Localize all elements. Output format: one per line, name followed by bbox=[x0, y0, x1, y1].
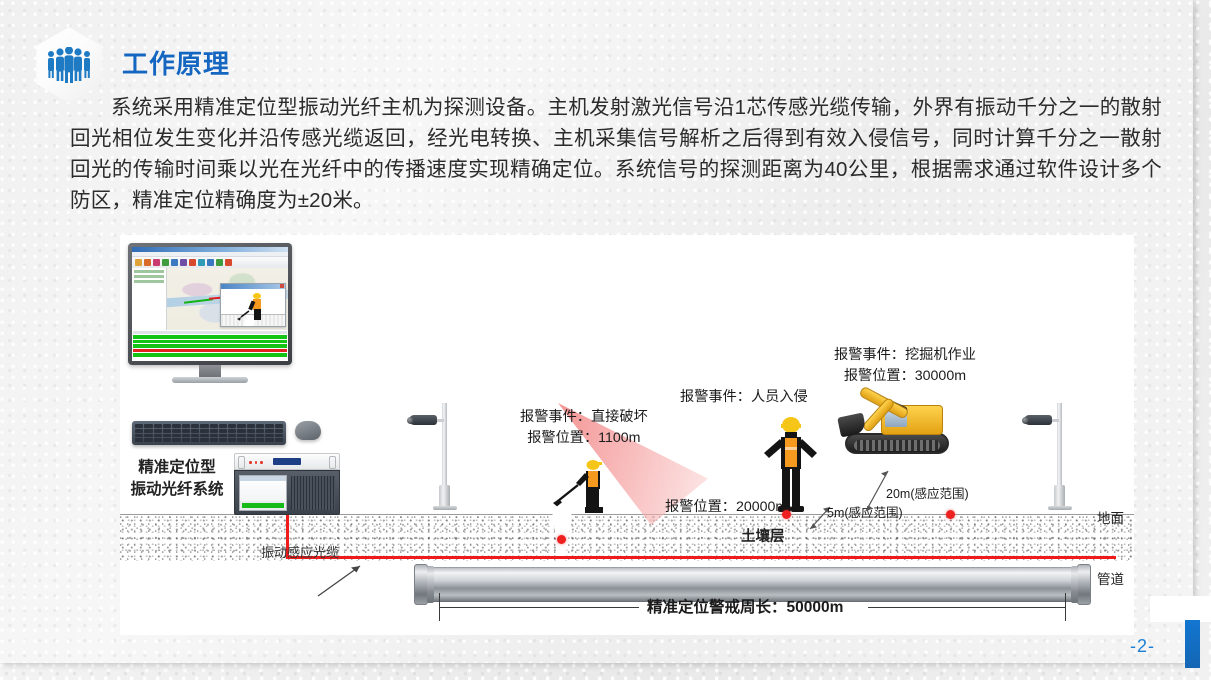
key bbox=[237, 424, 245, 428]
key bbox=[172, 434, 180, 438]
body-paragraph: 系统采用精准定位型振动光纤主机为探测设备。主机发射激光信号沿1芯传感光缆传输，外… bbox=[70, 92, 1162, 216]
key bbox=[172, 429, 180, 433]
pole-collar bbox=[439, 485, 450, 507]
key bbox=[154, 438, 162, 442]
key bbox=[275, 429, 283, 433]
popup-worker-icon bbox=[221, 289, 285, 326]
key bbox=[219, 434, 227, 438]
key bbox=[247, 438, 255, 442]
toolbar-icon bbox=[216, 259, 223, 266]
key bbox=[135, 434, 143, 438]
toolbar-icon bbox=[162, 259, 169, 266]
footer-notch bbox=[1150, 596, 1211, 622]
page-number: -2- bbox=[1130, 636, 1155, 657]
tree-item bbox=[134, 270, 164, 273]
app-workspace bbox=[132, 268, 288, 330]
device-tree-panel bbox=[132, 268, 167, 330]
key bbox=[163, 429, 171, 433]
dimension-line-left bbox=[439, 607, 639, 608]
toolbar-icon bbox=[135, 259, 142, 266]
key bbox=[144, 434, 152, 438]
gis-map-view bbox=[167, 268, 288, 330]
sensing-cable-label: 振动感应光缆 bbox=[261, 542, 339, 561]
key bbox=[163, 438, 171, 442]
key bbox=[256, 429, 264, 433]
key bbox=[172, 438, 180, 442]
perimeter-dimension-label: 精准定位警戒周长：50000m bbox=[647, 595, 843, 617]
key bbox=[275, 434, 283, 438]
monitor-stand-base bbox=[172, 377, 248, 383]
toolbar-icon bbox=[225, 259, 232, 266]
tree-item bbox=[134, 280, 164, 283]
key bbox=[135, 438, 143, 442]
key bbox=[275, 438, 283, 442]
status-leds bbox=[249, 461, 263, 464]
worker-digging-icon bbox=[552, 457, 618, 519]
key bbox=[191, 438, 199, 442]
alarm-callout-2: 报警事件：人员入侵 bbox=[680, 387, 808, 408]
camera-pole-right bbox=[1040, 403, 1080, 523]
key bbox=[172, 424, 180, 428]
key bbox=[200, 424, 208, 428]
rack-ear bbox=[238, 456, 245, 469]
pipe-flange-left-inner bbox=[427, 566, 434, 603]
toolbar-icon bbox=[180, 259, 187, 266]
rack-main-unit bbox=[234, 470, 340, 515]
rack-top-unit bbox=[234, 453, 340, 470]
key bbox=[265, 424, 273, 428]
key bbox=[219, 424, 227, 428]
popup-illustration bbox=[221, 289, 285, 326]
equipment-label: 精准定位型 振动光纤系统 bbox=[125, 457, 229, 501]
key bbox=[247, 424, 255, 428]
soil-layer-label: 土壤层 bbox=[741, 525, 785, 546]
pole-foot bbox=[1048, 506, 1072, 510]
key bbox=[135, 429, 143, 433]
monitor-screen bbox=[132, 247, 288, 361]
camera-pole-left bbox=[425, 403, 465, 523]
excavator-icon bbox=[835, 373, 957, 457]
key bbox=[191, 434, 199, 438]
key bbox=[210, 429, 218, 433]
key bbox=[228, 424, 236, 428]
alarm-dot-2 bbox=[782, 510, 791, 519]
key bbox=[191, 429, 199, 433]
key bbox=[163, 424, 171, 428]
key bbox=[228, 438, 236, 442]
key bbox=[144, 424, 152, 428]
dimension-tick-right bbox=[1065, 593, 1066, 621]
toolbar-icon bbox=[153, 259, 160, 266]
key bbox=[182, 429, 190, 433]
lcd-status-bar bbox=[242, 503, 284, 508]
key bbox=[210, 434, 218, 438]
diagram-panel: 土壤层 地面 管道 bbox=[120, 235, 1134, 635]
alarm-position-1: 报警位置：1100m bbox=[520, 428, 648, 449]
key bbox=[182, 424, 190, 428]
key bbox=[182, 434, 190, 438]
toolbar-icon bbox=[144, 259, 151, 266]
key bbox=[154, 434, 162, 438]
key bbox=[256, 438, 264, 442]
dimension-line-right bbox=[868, 607, 1065, 608]
key bbox=[210, 424, 218, 428]
key bbox=[265, 434, 273, 438]
table-row bbox=[133, 340, 287, 344]
alarm-event-2: 报警事件：人员入侵 bbox=[680, 387, 808, 408]
sensing-range-label-3: 20m(感应范围) bbox=[886, 483, 969, 502]
cable-callout-arrow bbox=[316, 562, 376, 598]
rack-lcd-screen bbox=[239, 475, 287, 511]
key bbox=[237, 434, 245, 438]
keyboard bbox=[132, 421, 286, 445]
key bbox=[237, 438, 245, 442]
monitor-bezel bbox=[128, 243, 292, 365]
mouse bbox=[295, 421, 321, 440]
alarm-callout-1: 报警事件：直接破坏 报警位置：1100m bbox=[520, 407, 648, 449]
operator-monitor bbox=[128, 243, 292, 365]
accent-bar bbox=[1185, 620, 1200, 668]
toolbar-icon bbox=[171, 259, 178, 266]
camera-lens-icon bbox=[1022, 417, 1029, 424]
fiber-host-rack bbox=[234, 453, 340, 515]
toolbar-icon bbox=[189, 259, 196, 266]
key bbox=[256, 434, 264, 438]
people-group-icon bbox=[45, 47, 93, 83]
key bbox=[200, 438, 208, 442]
pole-foot bbox=[433, 506, 457, 510]
pole-collar bbox=[1054, 485, 1065, 507]
key bbox=[219, 438, 227, 442]
alarm-popup-window bbox=[220, 283, 286, 327]
worker-standing-icon bbox=[762, 413, 820, 517]
pipe-flange-right bbox=[1077, 564, 1091, 605]
key bbox=[200, 429, 208, 433]
rack-display bbox=[273, 458, 301, 465]
alarm-log-table bbox=[132, 330, 288, 358]
table-row bbox=[133, 335, 287, 339]
rack-ear bbox=[329, 456, 336, 469]
slide-canvas: 工作原理 系统采用精准定位型振动光纤主机为探测设备。主机发射激光信号沿1芯传感光… bbox=[0, 0, 1193, 663]
key bbox=[200, 434, 208, 438]
excavator-track bbox=[845, 433, 949, 454]
table-row bbox=[133, 353, 287, 357]
lcd-waveform bbox=[240, 481, 286, 501]
key bbox=[144, 429, 152, 433]
sensing-cable-horizontal bbox=[286, 556, 1116, 559]
equipment-label-line1: 精准定位型 bbox=[125, 457, 229, 479]
equipment-label-line2: 振动光纤系统 bbox=[125, 479, 229, 501]
alarm-event-3: 报警事件：挖掘机作业 bbox=[834, 345, 976, 366]
pipeline-label: 管道 bbox=[1097, 568, 1124, 588]
key bbox=[144, 438, 152, 442]
key bbox=[191, 424, 199, 428]
app-toolbar bbox=[132, 257, 288, 268]
tree-item bbox=[134, 275, 164, 278]
alarm-event-1: 报警事件：直接破坏 bbox=[520, 407, 648, 428]
toolbar-icon bbox=[207, 259, 214, 266]
table-header bbox=[133, 331, 287, 334]
key bbox=[228, 434, 236, 438]
alarm-dot-3 bbox=[946, 510, 955, 519]
key bbox=[135, 424, 143, 428]
key bbox=[154, 424, 162, 428]
key bbox=[265, 438, 273, 442]
pipe-flange-left bbox=[414, 564, 428, 605]
key bbox=[182, 438, 190, 442]
key bbox=[256, 424, 264, 428]
ground-label: 地面 bbox=[1097, 507, 1124, 527]
table-row bbox=[133, 349, 287, 353]
key bbox=[247, 434, 255, 438]
pipe-flange-right-inner bbox=[1071, 566, 1078, 603]
page-title: 工作原理 bbox=[122, 44, 230, 81]
key bbox=[275, 424, 283, 428]
key bbox=[154, 429, 162, 433]
rack-vent-grill bbox=[291, 476, 335, 510]
key bbox=[247, 429, 255, 433]
table-row bbox=[133, 344, 287, 348]
toolbar-icon bbox=[198, 259, 205, 266]
key bbox=[265, 429, 273, 433]
camera-lens-icon bbox=[407, 417, 414, 424]
key bbox=[237, 429, 245, 433]
key bbox=[163, 434, 171, 438]
alarm-dot-1 bbox=[557, 535, 566, 544]
close-icon[interactable] bbox=[280, 284, 284, 288]
key bbox=[210, 438, 218, 442]
key bbox=[228, 429, 236, 433]
key bbox=[219, 429, 227, 433]
